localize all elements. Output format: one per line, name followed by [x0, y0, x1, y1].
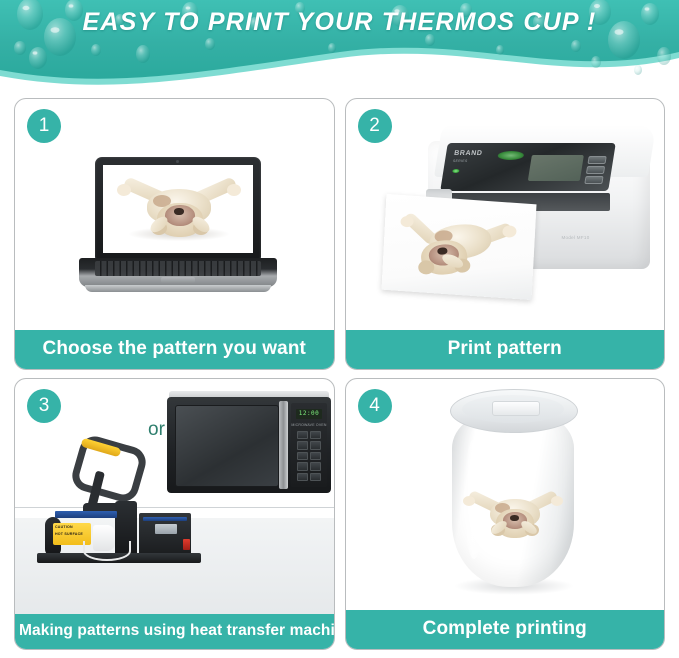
dog-photo-on-screen [103, 165, 253, 253]
microwave-key[interactable] [310, 473, 321, 481]
dog-photo-on-page [383, 198, 532, 296]
microwave-key[interactable] [310, 441, 321, 449]
microwave-handle[interactable] [279, 401, 288, 489]
or-separator-label: or [148, 419, 165, 441]
microwave-display: 12:00 [296, 409, 322, 419]
step-number-badge-3: 3 [27, 389, 61, 423]
printed-page [381, 194, 536, 300]
press-display [155, 524, 177, 534]
printer-button-3[interactable] [584, 176, 603, 184]
printer-status-led-1 [452, 169, 460, 173]
step-1-illustration: 1 [15, 99, 334, 330]
printer-brand-label: BRAND [453, 150, 482, 157]
microwave-logo-label: MICROWAVE OVEN [291, 423, 327, 427]
step-number-badge-1: 1 [27, 109, 61, 143]
printer-control-panel: BRAND SERIES [440, 143, 616, 191]
microwave-key[interactable] [310, 431, 321, 439]
laptop-illustration [73, 157, 283, 297]
press-caution-subtext: HOT SURFACE [55, 532, 83, 536]
microwave-keypad[interactable] [297, 431, 321, 481]
microwave-key[interactable] [310, 452, 321, 460]
mug-heat-press-illustration: CAUTION HOT SURFACE [29, 441, 229, 567]
printer-status-led-2 [497, 151, 524, 160]
tumbler-illustration [438, 387, 588, 595]
microwave-key[interactable] [310, 462, 321, 470]
press-power-cord [83, 541, 131, 561]
microwave-key[interactable] [297, 462, 308, 470]
page-title: EASY TO PRINT YOUR THERMOS CUP ! [0, 8, 679, 37]
step-caption-2: Print pattern [346, 330, 665, 369]
step-card-3[interactable]: 3 or 12:00 MICROWAVE OVEN [14, 378, 335, 650]
step-3-illustration: 3 or 12:00 MICROWAVE OVEN [15, 379, 334, 614]
microwave-key[interactable] [297, 431, 308, 439]
step-number-badge-4: 4 [358, 389, 392, 423]
press-control-box [139, 513, 191, 555]
dog-print-on-tumbler [460, 479, 566, 551]
step-number-badge-2: 2 [358, 109, 392, 143]
step-card-2[interactable]: 2 BRAND SERIES [345, 98, 666, 370]
printer-illustration: BRAND SERIES Model MF10 [382, 107, 665, 317]
microwave-key[interactable] [297, 452, 308, 460]
step-card-4[interactable]: 4 [345, 378, 666, 650]
printer-model-label: Model MF10 [562, 235, 590, 240]
step-caption-3: Making patterns using heat transfer mach… [15, 614, 334, 649]
step-caption-4: Complete printing [346, 610, 665, 649]
press-power-switch[interactable] [183, 539, 190, 550]
steps-grid: 1 [0, 88, 679, 658]
printer-lcd-screen [527, 155, 583, 181]
printer-button-1[interactable] [587, 156, 606, 164]
step-2-illustration: 2 BRAND SERIES [346, 99, 665, 330]
microwave-key[interactable] [297, 473, 308, 481]
microwave-control-panel: 12:00 MICROWAVE OVEN [291, 403, 327, 487]
step-4-illustration: 4 [346, 379, 665, 610]
tumbler-lid-slider[interactable] [492, 401, 540, 416]
page-header: EASY TO PRINT YOUR THERMOS CUP ! [0, 0, 679, 88]
step-caption-1: Choose the pattern you want [15, 330, 334, 369]
printer-button-2[interactable] [585, 166, 604, 174]
microwave-key[interactable] [297, 441, 308, 449]
press-caution-text: CAUTION [55, 525, 73, 529]
printer-brand-sublabel: SERIES [452, 159, 467, 163]
step-card-1[interactable]: 1 [14, 98, 335, 370]
